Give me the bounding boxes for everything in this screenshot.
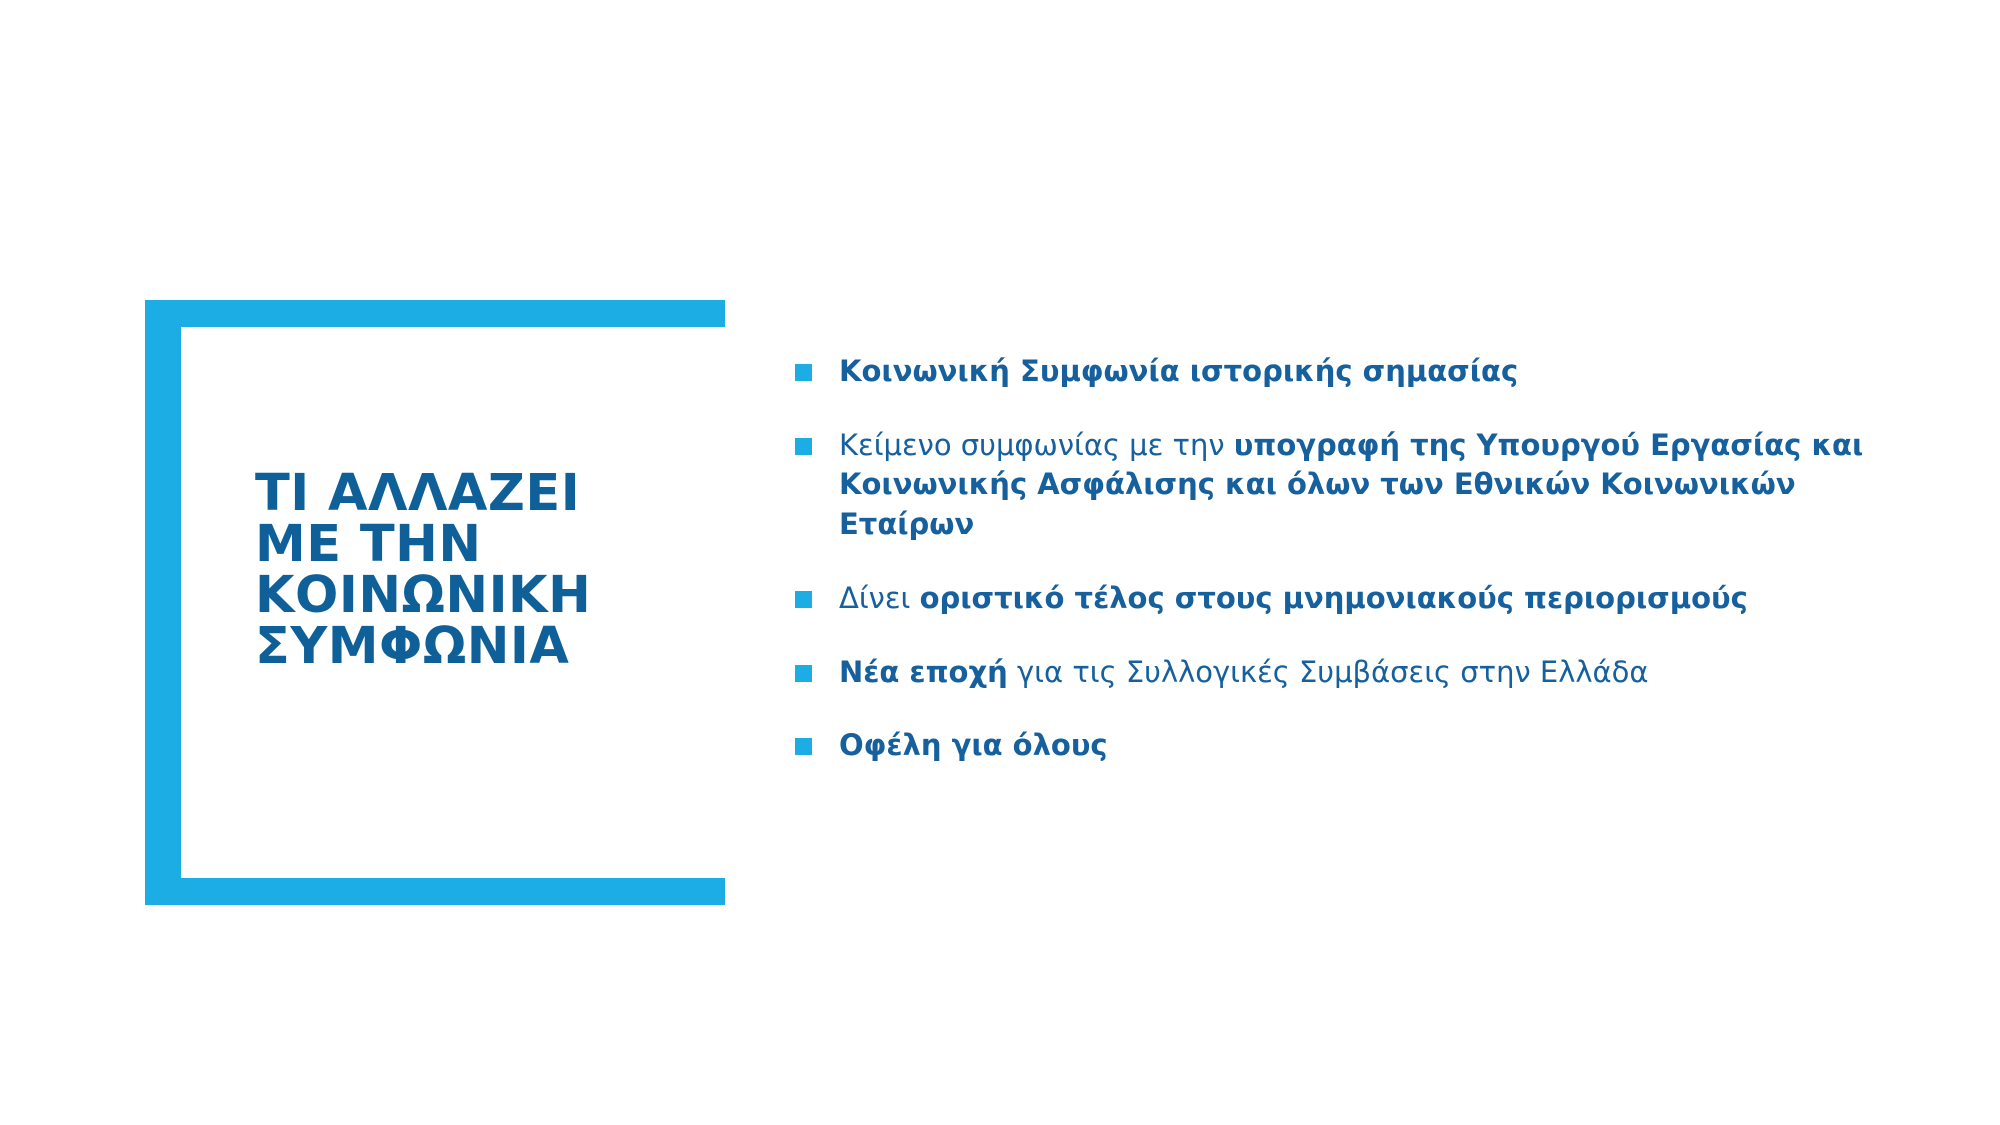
text-segment-bold: Οφέλη για όλους: [839, 728, 1108, 762]
list-item-label: Κοινωνική Συμφωνία ιστορικής σημασίας: [839, 352, 1895, 392]
list-item: Κοινωνική Συμφωνία ιστορικής σημασίας: [795, 352, 1895, 392]
text-segment-bold: οριστικό τέλος στους μνημονιακούς περιορ…: [920, 581, 1748, 615]
title-frame: ΤΙ ΑΛΛΑΖΕΙ ΜΕ ΤΗΝ ΚΟΙΝΩΝΙΚΗ ΣΥΜΦΩΝΙΑ: [145, 300, 725, 905]
frame-bar-bottom-icon: [145, 878, 725, 905]
list-item: Οφέλη για όλους: [795, 726, 1895, 766]
list-item: Νέα εποχή για τις Συλλογικές Συμβάσεις σ…: [795, 653, 1895, 693]
text-segment: για τις Συλλογικές Συμβάσεις στην Ελλάδα: [1008, 655, 1649, 689]
slide-canvas: ΤΙ ΑΛΛΑΖΕΙ ΜΕ ΤΗΝ ΚΟΙΝΩΝΙΚΗ ΣΥΜΦΩΝΙΑ Κοι…: [0, 0, 2000, 1125]
frame-bar-top-icon: [145, 300, 725, 327]
page-title: ΤΙ ΑΛΛΑΖΕΙ ΜΕ ΤΗΝ ΚΟΙΝΩΝΙΚΗ ΣΥΜΦΩΝΙΑ: [255, 468, 685, 672]
list-item-label: Κείμενο συμφωνίας με την υπογραφή της Υπ…: [839, 426, 1895, 545]
square-bullet-icon: [795, 738, 812, 755]
text-segment-bold: Νέα εποχή: [839, 655, 1008, 689]
text-segment-bold: Κοινωνική Συμφωνία ιστορικής σημασίας: [839, 354, 1518, 388]
text-segment: Δίνει: [839, 581, 920, 615]
square-bullet-icon: [795, 364, 812, 381]
text-segment: Κείμενο συμφωνίας με την: [839, 428, 1234, 462]
square-bullet-icon: [795, 665, 812, 682]
frame-bar-left-icon: [145, 300, 181, 905]
list-item-label: Δίνει οριστικό τέλος στους μνημονιακούς …: [839, 579, 1895, 619]
bullet-list: Κοινωνική Συμφωνία ιστορικής σημασίαςΚεί…: [795, 352, 1895, 766]
square-bullet-icon: [795, 591, 812, 608]
list-item: Κείμενο συμφωνίας με την υπογραφή της Υπ…: [795, 426, 1895, 545]
square-bullet-icon: [795, 438, 812, 455]
list-item: Δίνει οριστικό τέλος στους μνημονιακούς …: [795, 579, 1895, 619]
list-item-label: Νέα εποχή για τις Συλλογικές Συμβάσεις σ…: [839, 653, 1895, 693]
list-item-label: Οφέλη για όλους: [839, 726, 1895, 766]
